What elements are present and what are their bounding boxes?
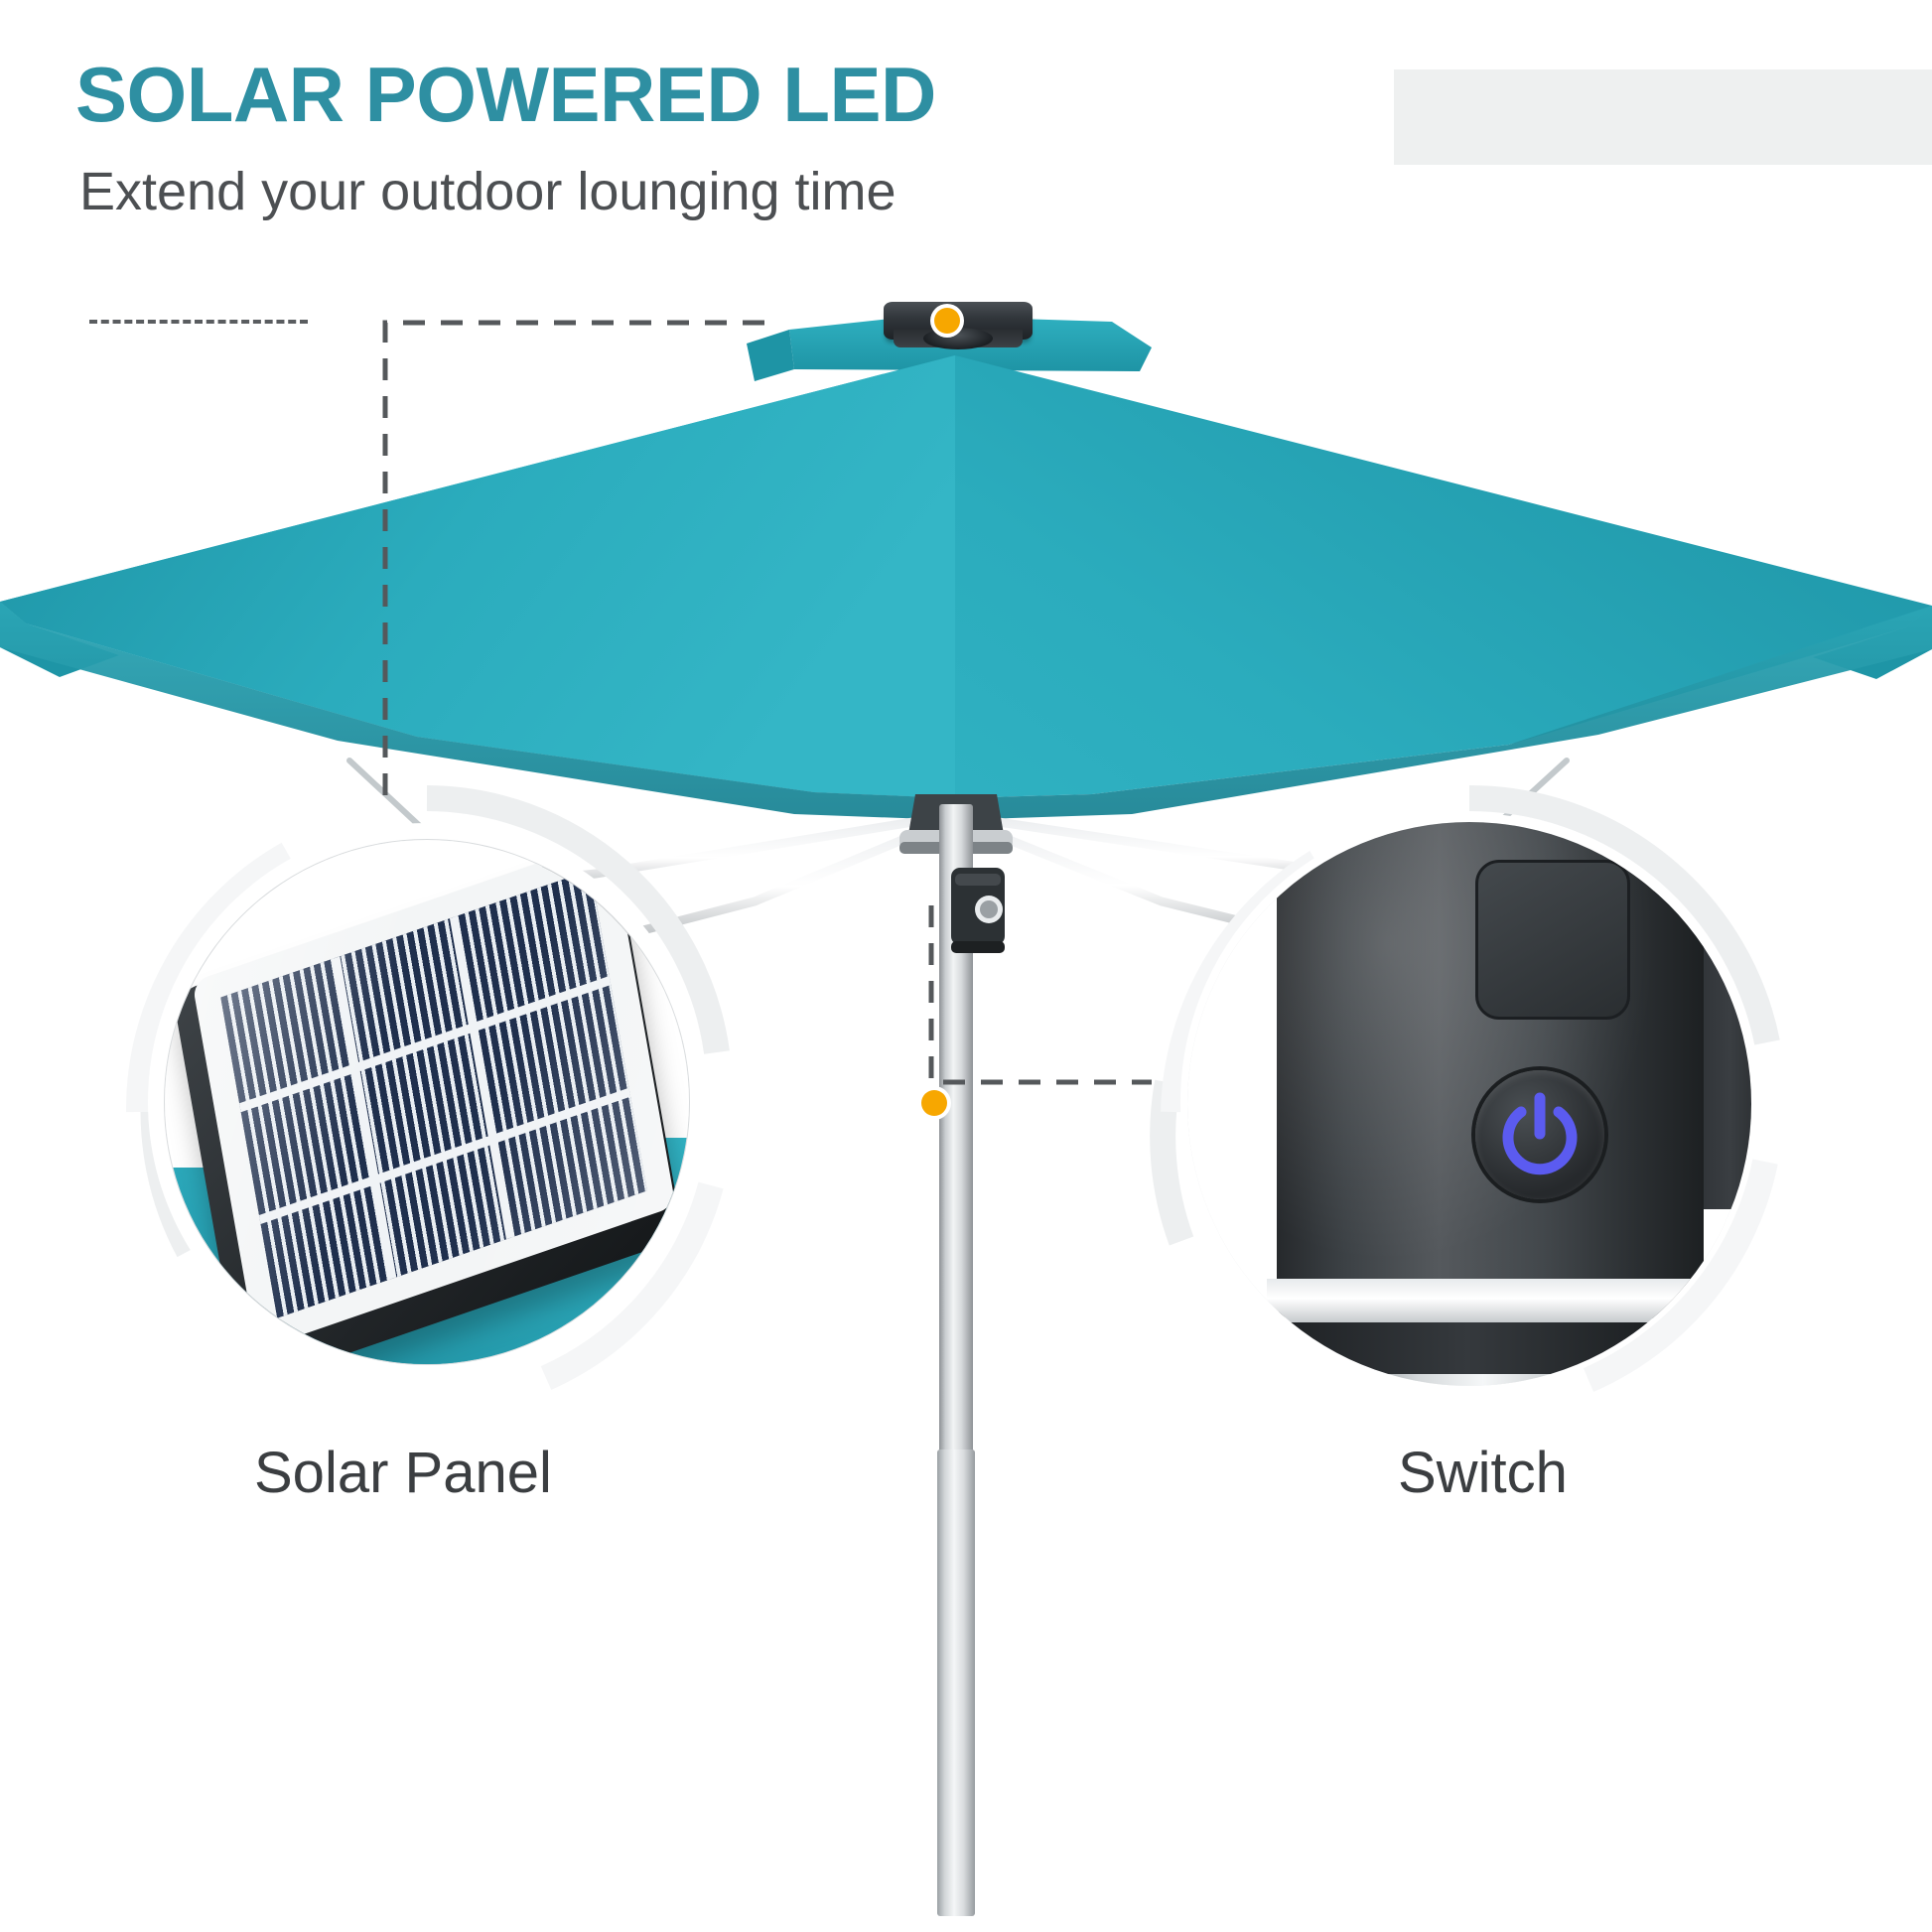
solar-panel-photo (165, 840, 689, 1364)
detail-caption-solar-panel: Solar Panel (254, 1440, 552, 1506)
chrome-band (1267, 1279, 1714, 1322)
callout-marker-switch[interactable] (921, 1090, 947, 1116)
infographic-canvas: SOLAR POWERED LED Extend your outdoor lo… (0, 0, 1932, 1932)
lower-housing-band (1267, 1322, 1714, 1374)
finial-lens (923, 328, 993, 349)
detail-solar-panel: Solar Panel (119, 784, 735, 1420)
page-title: SOLAR POWERED LED (75, 56, 936, 133)
detail-caption-switch: Switch (1398, 1440, 1568, 1506)
pole-below-switch (1361, 1374, 1615, 1386)
callout-marker-solar-panel[interactable] (934, 308, 960, 334)
switch-photo (1187, 822, 1751, 1386)
detail-switch: Switch (1122, 784, 1817, 1420)
power-icon (1495, 1090, 1585, 1179)
header-accent-band (1394, 69, 1932, 165)
pole-switch-housing (945, 864, 1025, 973)
usb-port-cover[interactable] (1475, 860, 1630, 1020)
page-subtitle: Extend your outdoor lounging time (79, 165, 897, 218)
umbrella-pole-lower (937, 1449, 975, 1916)
